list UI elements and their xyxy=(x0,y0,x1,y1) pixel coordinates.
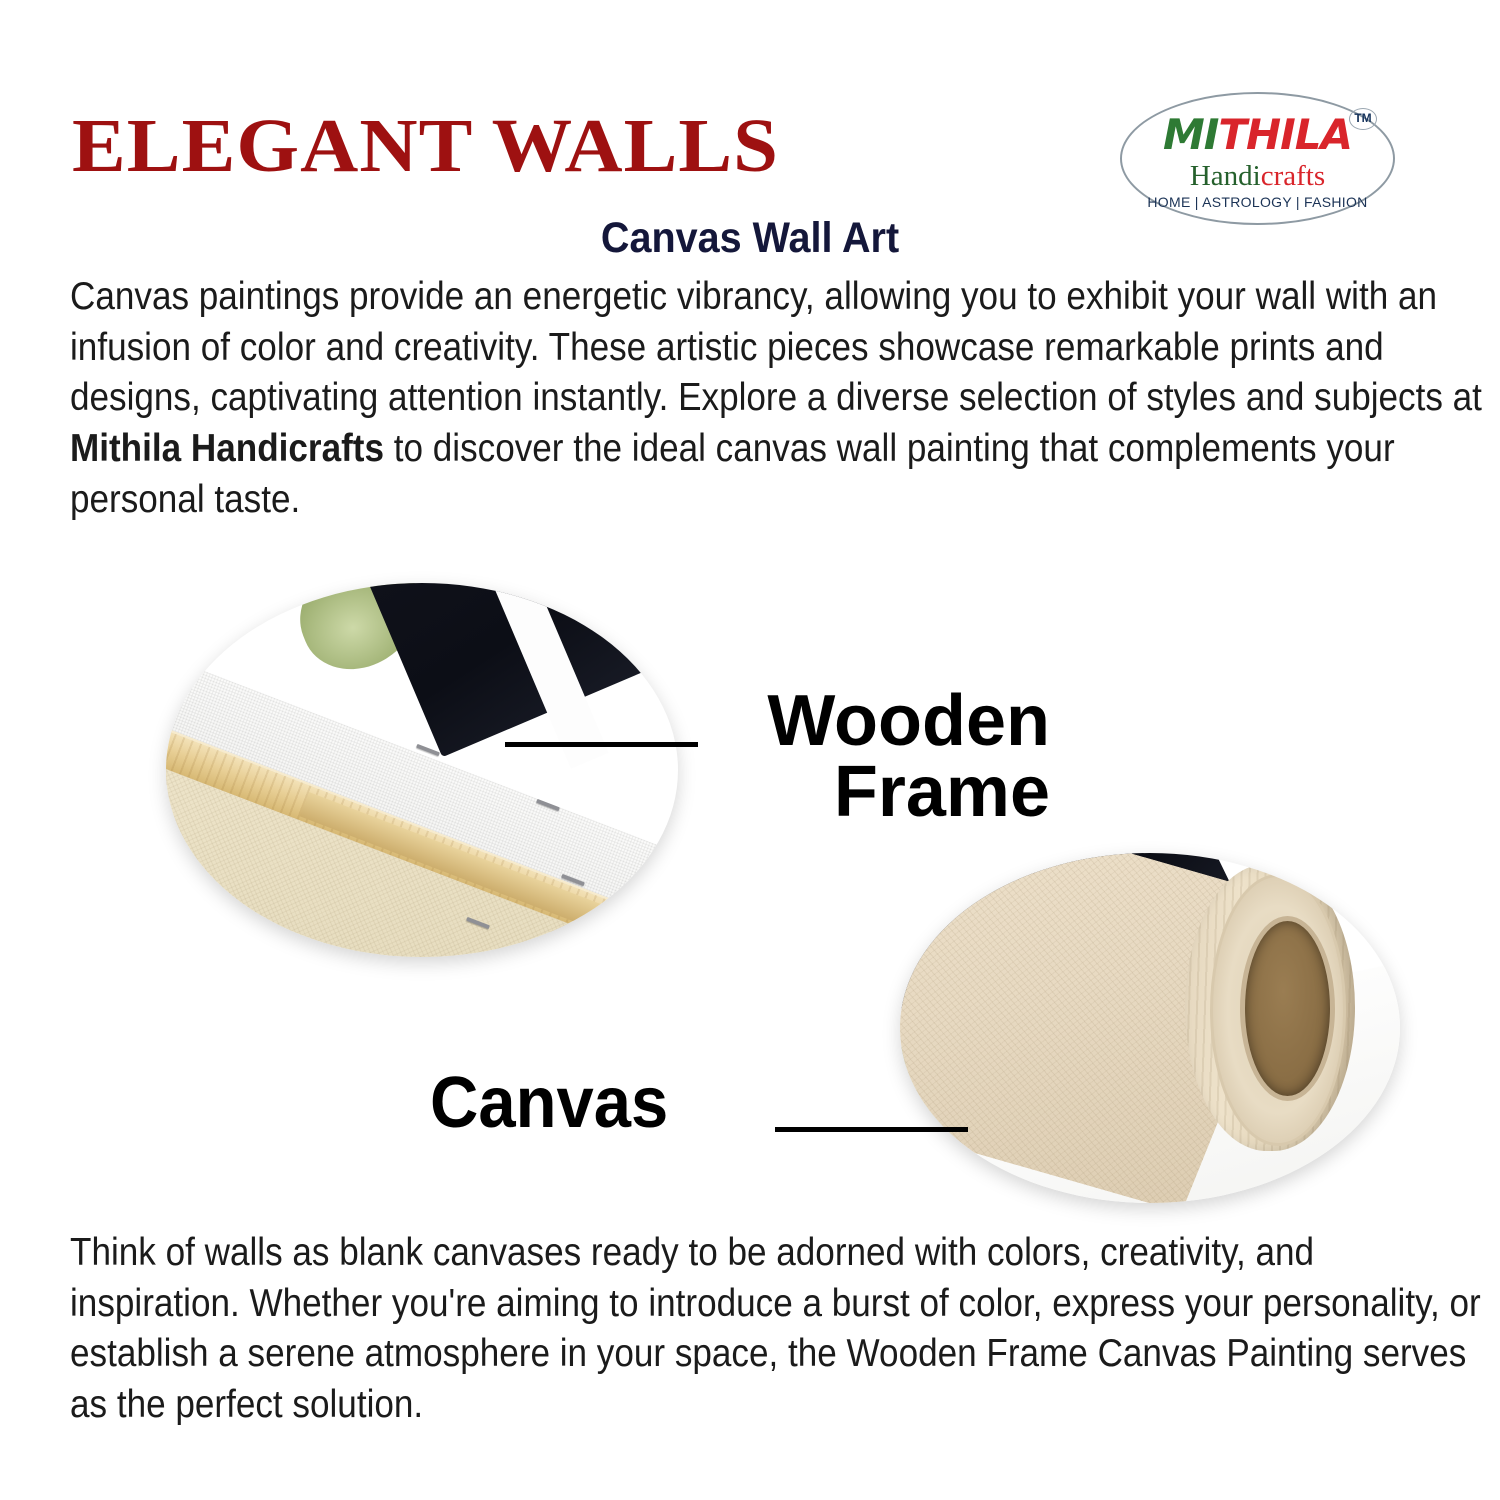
logo-wordmark-part2: THILA xyxy=(1218,110,1352,159)
logo-subtitle-part1: Handi xyxy=(1190,160,1261,192)
wooden-frame-photo xyxy=(166,583,678,957)
brand-mention: Mithila Handicrafts xyxy=(70,427,384,470)
intro-text-before: Canvas paintings provide an energetic vi… xyxy=(70,275,1482,419)
section-heading: Canvas Wall Art xyxy=(60,216,1440,261)
wooden-frame-callout-line1: Wooden xyxy=(700,686,1050,757)
canvas-callout: Canvas xyxy=(430,1068,737,1139)
trademark-icon: TM xyxy=(1349,108,1377,130)
logo-wordmark-part1: MI xyxy=(1163,110,1218,159)
wooden-frame-callout-line2: Frame xyxy=(700,757,1050,828)
brand-logo: MITHILA TM Handicrafts HOME | ASTROLOGY … xyxy=(1120,92,1395,225)
cardboard-tube-core xyxy=(1240,916,1335,1101)
page-title: ELEGANT WALLS xyxy=(72,108,779,184)
outro-paragraph: Think of walls as blank canvases ready t… xyxy=(70,1228,1483,1431)
canvas-leader-line xyxy=(775,1127,968,1132)
wooden-frame-callout: Wooden Frame xyxy=(700,686,1050,827)
wooden-frame-leader-line xyxy=(505,742,698,747)
logo-tagline: HOME | ASTROLOGY | FASHION xyxy=(1122,194,1393,210)
logo-subtitle-part2: crafts xyxy=(1261,160,1325,192)
canvas-roll-photo xyxy=(900,853,1400,1203)
intro-paragraph: Canvas paintings provide an energetic vi… xyxy=(70,272,1483,525)
infographic-page: ELEGANT WALLS MITHILA TM Handicrafts HOM… xyxy=(0,0,1500,1500)
logo-subtitle: Handicrafts xyxy=(1122,162,1393,191)
